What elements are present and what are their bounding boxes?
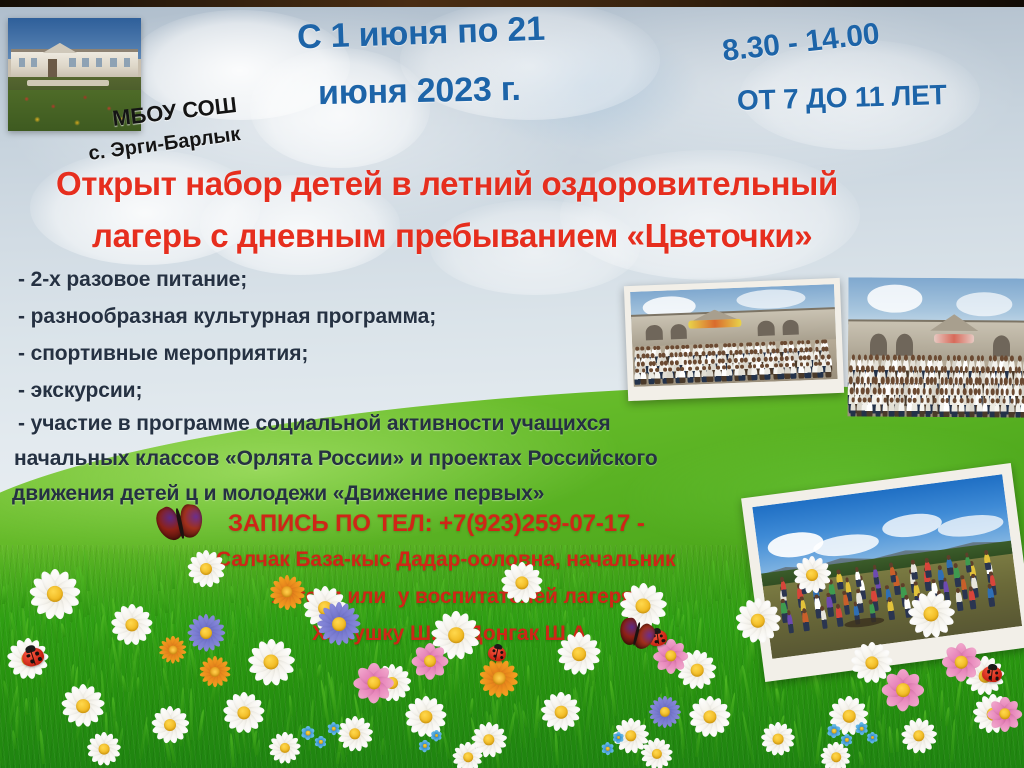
flower-icon (150, 705, 190, 745)
feature-item-6: движения детей ц и молодежи «Движение пе… (12, 482, 544, 506)
flower-icon (316, 601, 362, 647)
flower-icon (314, 735, 328, 749)
flower-icon (86, 731, 122, 767)
flower-icon (612, 731, 625, 744)
contact-head-name: Салчак База-кыс Дадар-ооловна, начальник (216, 548, 675, 572)
feature-item-1: - разнообразная культурная программа; (18, 305, 436, 329)
flower-icon (28, 567, 82, 621)
flower-icon (880, 667, 926, 713)
feature-item-4: - участие в программе социальной активно… (18, 412, 611, 436)
flower-icon (110, 603, 154, 647)
flower-icon (688, 695, 732, 739)
flower-icon (430, 729, 443, 742)
flower-icon (556, 631, 602, 677)
assembly-photo-2 (848, 277, 1024, 417)
flower-icon (648, 695, 682, 729)
flower-icon (500, 561, 544, 605)
flower-icon (222, 691, 266, 735)
flower-icon (336, 715, 374, 753)
feature-item-3: - экскурсии; (18, 379, 142, 403)
flower-icon (940, 641, 982, 683)
flower-icon (186, 549, 226, 589)
flower-icon (198, 655, 232, 689)
feature-item-0: - 2-х разовое питание; (18, 268, 247, 292)
summer-camp-poster: С 1 июня по 21 июня 2023 г. 8.30 - 14.00… (0, 0, 1024, 768)
flower-icon (268, 731, 302, 765)
assembly-photo-1 (624, 278, 844, 401)
flower-icon (60, 683, 106, 729)
flower-icon (900, 717, 938, 755)
camp-age-range: ОТ 7 ДО 11 ЛЕТ (737, 79, 947, 117)
flower-icon (866, 731, 879, 744)
butterfly-icon (155, 501, 205, 545)
flower-icon (268, 573, 306, 611)
contact-phone-line[interactable]: ЗАПИСЬ ПО ТЕЛ: +7(923)259-07-17 - (228, 510, 645, 538)
flower-icon (326, 721, 341, 736)
flower-icon (986, 695, 1024, 733)
screen-edge-top (0, 0, 1024, 7)
flower-icon (540, 691, 582, 733)
flower-icon (246, 637, 296, 687)
flower-icon (760, 721, 796, 757)
flower-icon (452, 741, 484, 768)
flower-icon (906, 589, 956, 639)
camp-date-line-2: июня 2023 г. (318, 70, 521, 113)
headline-line-1: Открыт набор детей в летний оздоровитель… (56, 165, 838, 203)
flower-icon (792, 555, 832, 595)
flower-icon (410, 641, 450, 681)
flower-icon (352, 661, 396, 705)
flower-icon (478, 657, 520, 699)
flower-icon (158, 635, 188, 665)
feature-item-2: - спортивные мероприятия; (18, 342, 308, 366)
flower-icon (840, 733, 854, 747)
headline-line-2: лагерь с дневным пребыванием «Цветочки» (92, 217, 812, 255)
flower-icon (186, 613, 226, 653)
flower-icon (734, 597, 782, 645)
flower-icon (640, 737, 674, 768)
feature-item-5: начальных классов «Орлята России» и прое… (14, 447, 658, 471)
